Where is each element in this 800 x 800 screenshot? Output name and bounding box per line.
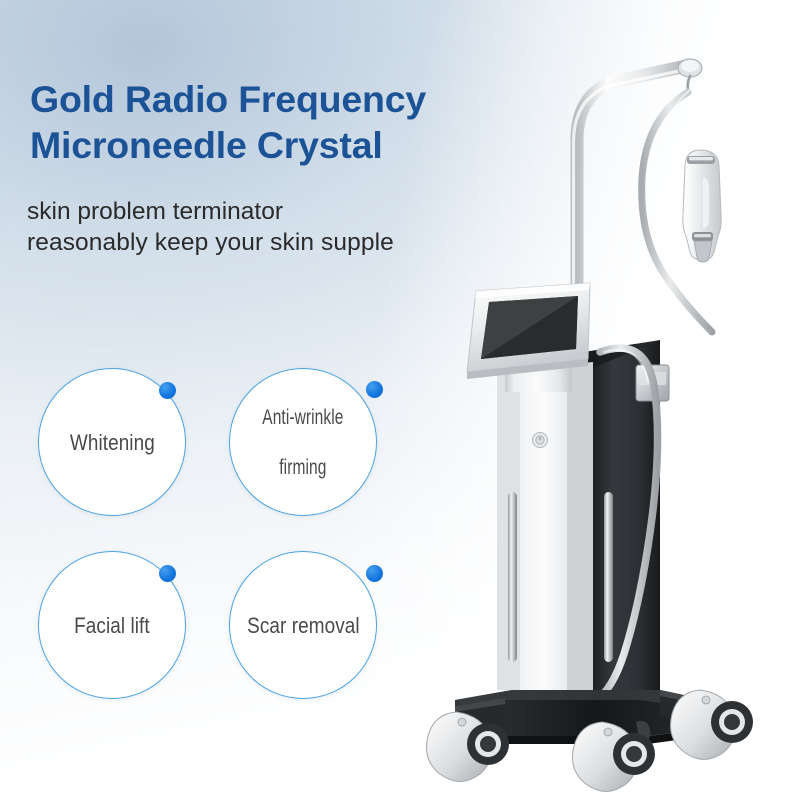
subheadline-line-2: reasonably keep your skin supple — [27, 227, 394, 258]
curved-arm-pole — [574, 66, 687, 300]
page-title: Gold Radio Frequency Microneedle Crystal — [30, 76, 426, 168]
poster-canvas: Gold Radio Frequency Microneedle Crystal… — [0, 0, 800, 800]
feature-label-facial-lift: Facial lift — [74, 613, 150, 638]
feature-dot-scar-removal — [366, 565, 383, 582]
white-front-column — [497, 362, 593, 690]
subheadline-line-1: skin problem terminator — [27, 198, 283, 225]
power-button — [533, 433, 548, 448]
caster-wheel — [671, 690, 754, 760]
body-handle-bar — [604, 492, 613, 662]
feature-label-whitening: Whitening — [70, 430, 155, 455]
caster-wheel — [573, 721, 656, 792]
feature-label-anti-wrinkle-firming: Anti-wrinkle firming — [256, 405, 350, 480]
feature-circle-scar-removal[interactable]: Scar removal — [229, 551, 377, 699]
feature-dot-facial-lift — [159, 565, 176, 582]
treatment-handpiece — [683, 150, 721, 262]
feature-dot-anti-wrinkle-firming — [366, 381, 383, 398]
headline-line-2: Microneedle Crystal — [30, 122, 426, 168]
feature-circle-anti-wrinkle-firming[interactable]: Anti-wrinkle firming — [229, 368, 377, 516]
handpiece-hook — [678, 59, 702, 92]
feature-label-line-1: Anti-wrinkle — [262, 405, 343, 430]
feature-label-scar-removal: Scar removal — [247, 613, 359, 638]
column-handle-bar — [508, 492, 517, 662]
feature-dot-whitening — [159, 382, 176, 399]
page-subtitle: skin problem terminator reasonably keep … — [27, 196, 394, 258]
feature-label-line-2: firming — [262, 455, 343, 480]
headline-line-1: Gold Radio Frequency — [30, 78, 426, 120]
touchscreen-monitor — [467, 283, 590, 379]
